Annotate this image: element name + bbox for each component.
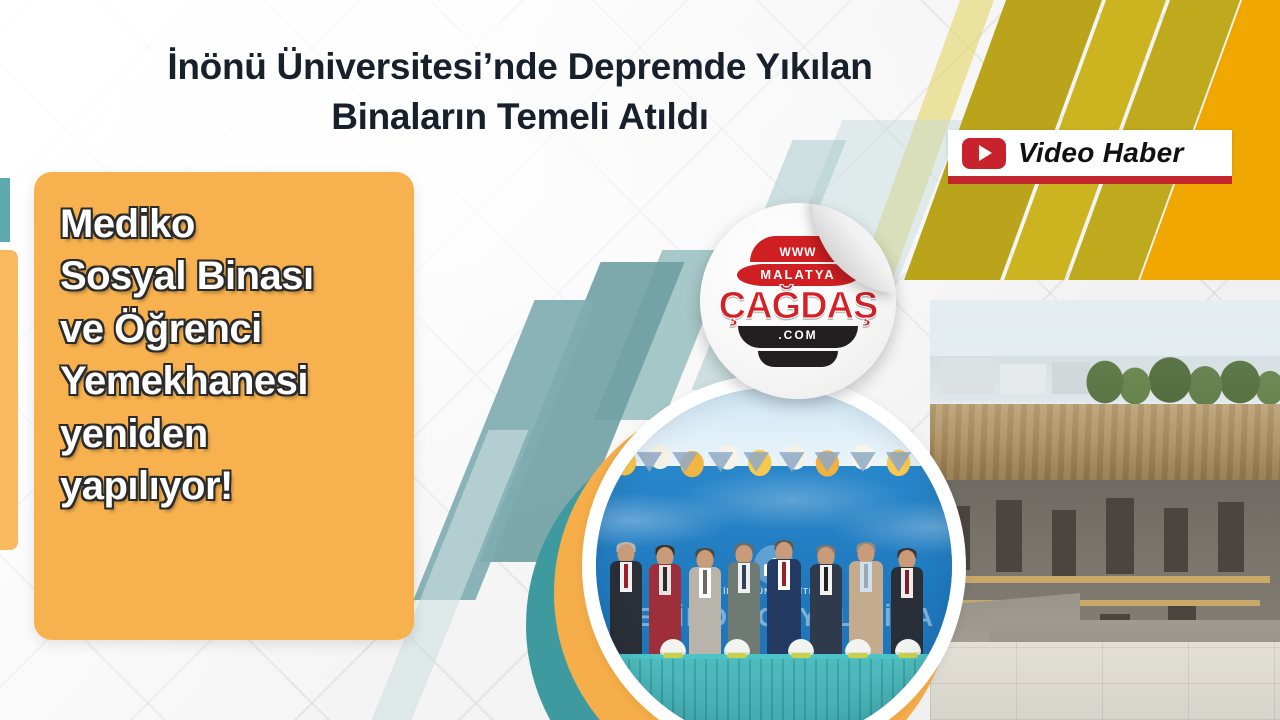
summary-text: Mediko Sosyal Binası ve Öğrenci Yemekhan… <box>60 198 392 512</box>
headline-line-1: İnönü Üniversitesi’nde Depremde Yıkılan <box>40 42 1000 92</box>
news-thumbnail-canvas: İNÖNÜ ÜNİVERSİTESİ MEDİKO SOSYAL BİNA <box>0 0 1280 720</box>
summary-line-3: ve Öğrenci <box>60 303 392 355</box>
summary-line-1: Mediko <box>60 198 392 250</box>
orange-edge-accent <box>0 250 18 550</box>
summary-line-4: Yemekhanesi <box>60 355 392 407</box>
summary-line-6: yapılıyor! <box>60 460 392 512</box>
pennant <box>601 452 627 472</box>
ceremony-photo-stack: İNÖNÜ ÜNİVERSİTESİ MEDİKO SOSYAL BİNA <box>560 368 980 720</box>
summary-box: Mediko Sosyal Binası ve Öğrenci Yemekhan… <box>34 172 414 640</box>
video-haber-label: Video Haber <box>1018 137 1184 169</box>
site-logo-sticker[interactable]: WWW MALATYA ÇAĞDAŞ .COM <box>700 203 896 399</box>
youtube-play-icon[interactable] <box>962 138 1006 169</box>
ceremony-photo: İNÖNÜ ÜNİVERSİTESİ MEDİKO SOSYAL BİNA <box>596 388 952 720</box>
construction-site-photo <box>930 300 1280 720</box>
logo-bottom-bar <box>758 351 838 367</box>
summary-line-5: yeniden <box>60 408 392 460</box>
pennant <box>921 452 947 472</box>
photo-haze <box>930 300 1280 720</box>
teal-edge-accent <box>0 178 10 242</box>
summary-line-2: Sosyal Binası <box>60 250 392 302</box>
page-title: İnönü Üniversitesi’nde Depremde Yıkılan … <box>40 42 1000 141</box>
logo-brand-text: ÇAĞDAŞ <box>719 287 878 325</box>
headline-line-2: Binaların Temeli Atıldı <box>40 92 1000 142</box>
logo-domain-text: .COM <box>738 326 858 348</box>
play-triangle-icon <box>979 145 992 161</box>
video-haber-badge[interactable]: Video Haber <box>948 130 1232 176</box>
